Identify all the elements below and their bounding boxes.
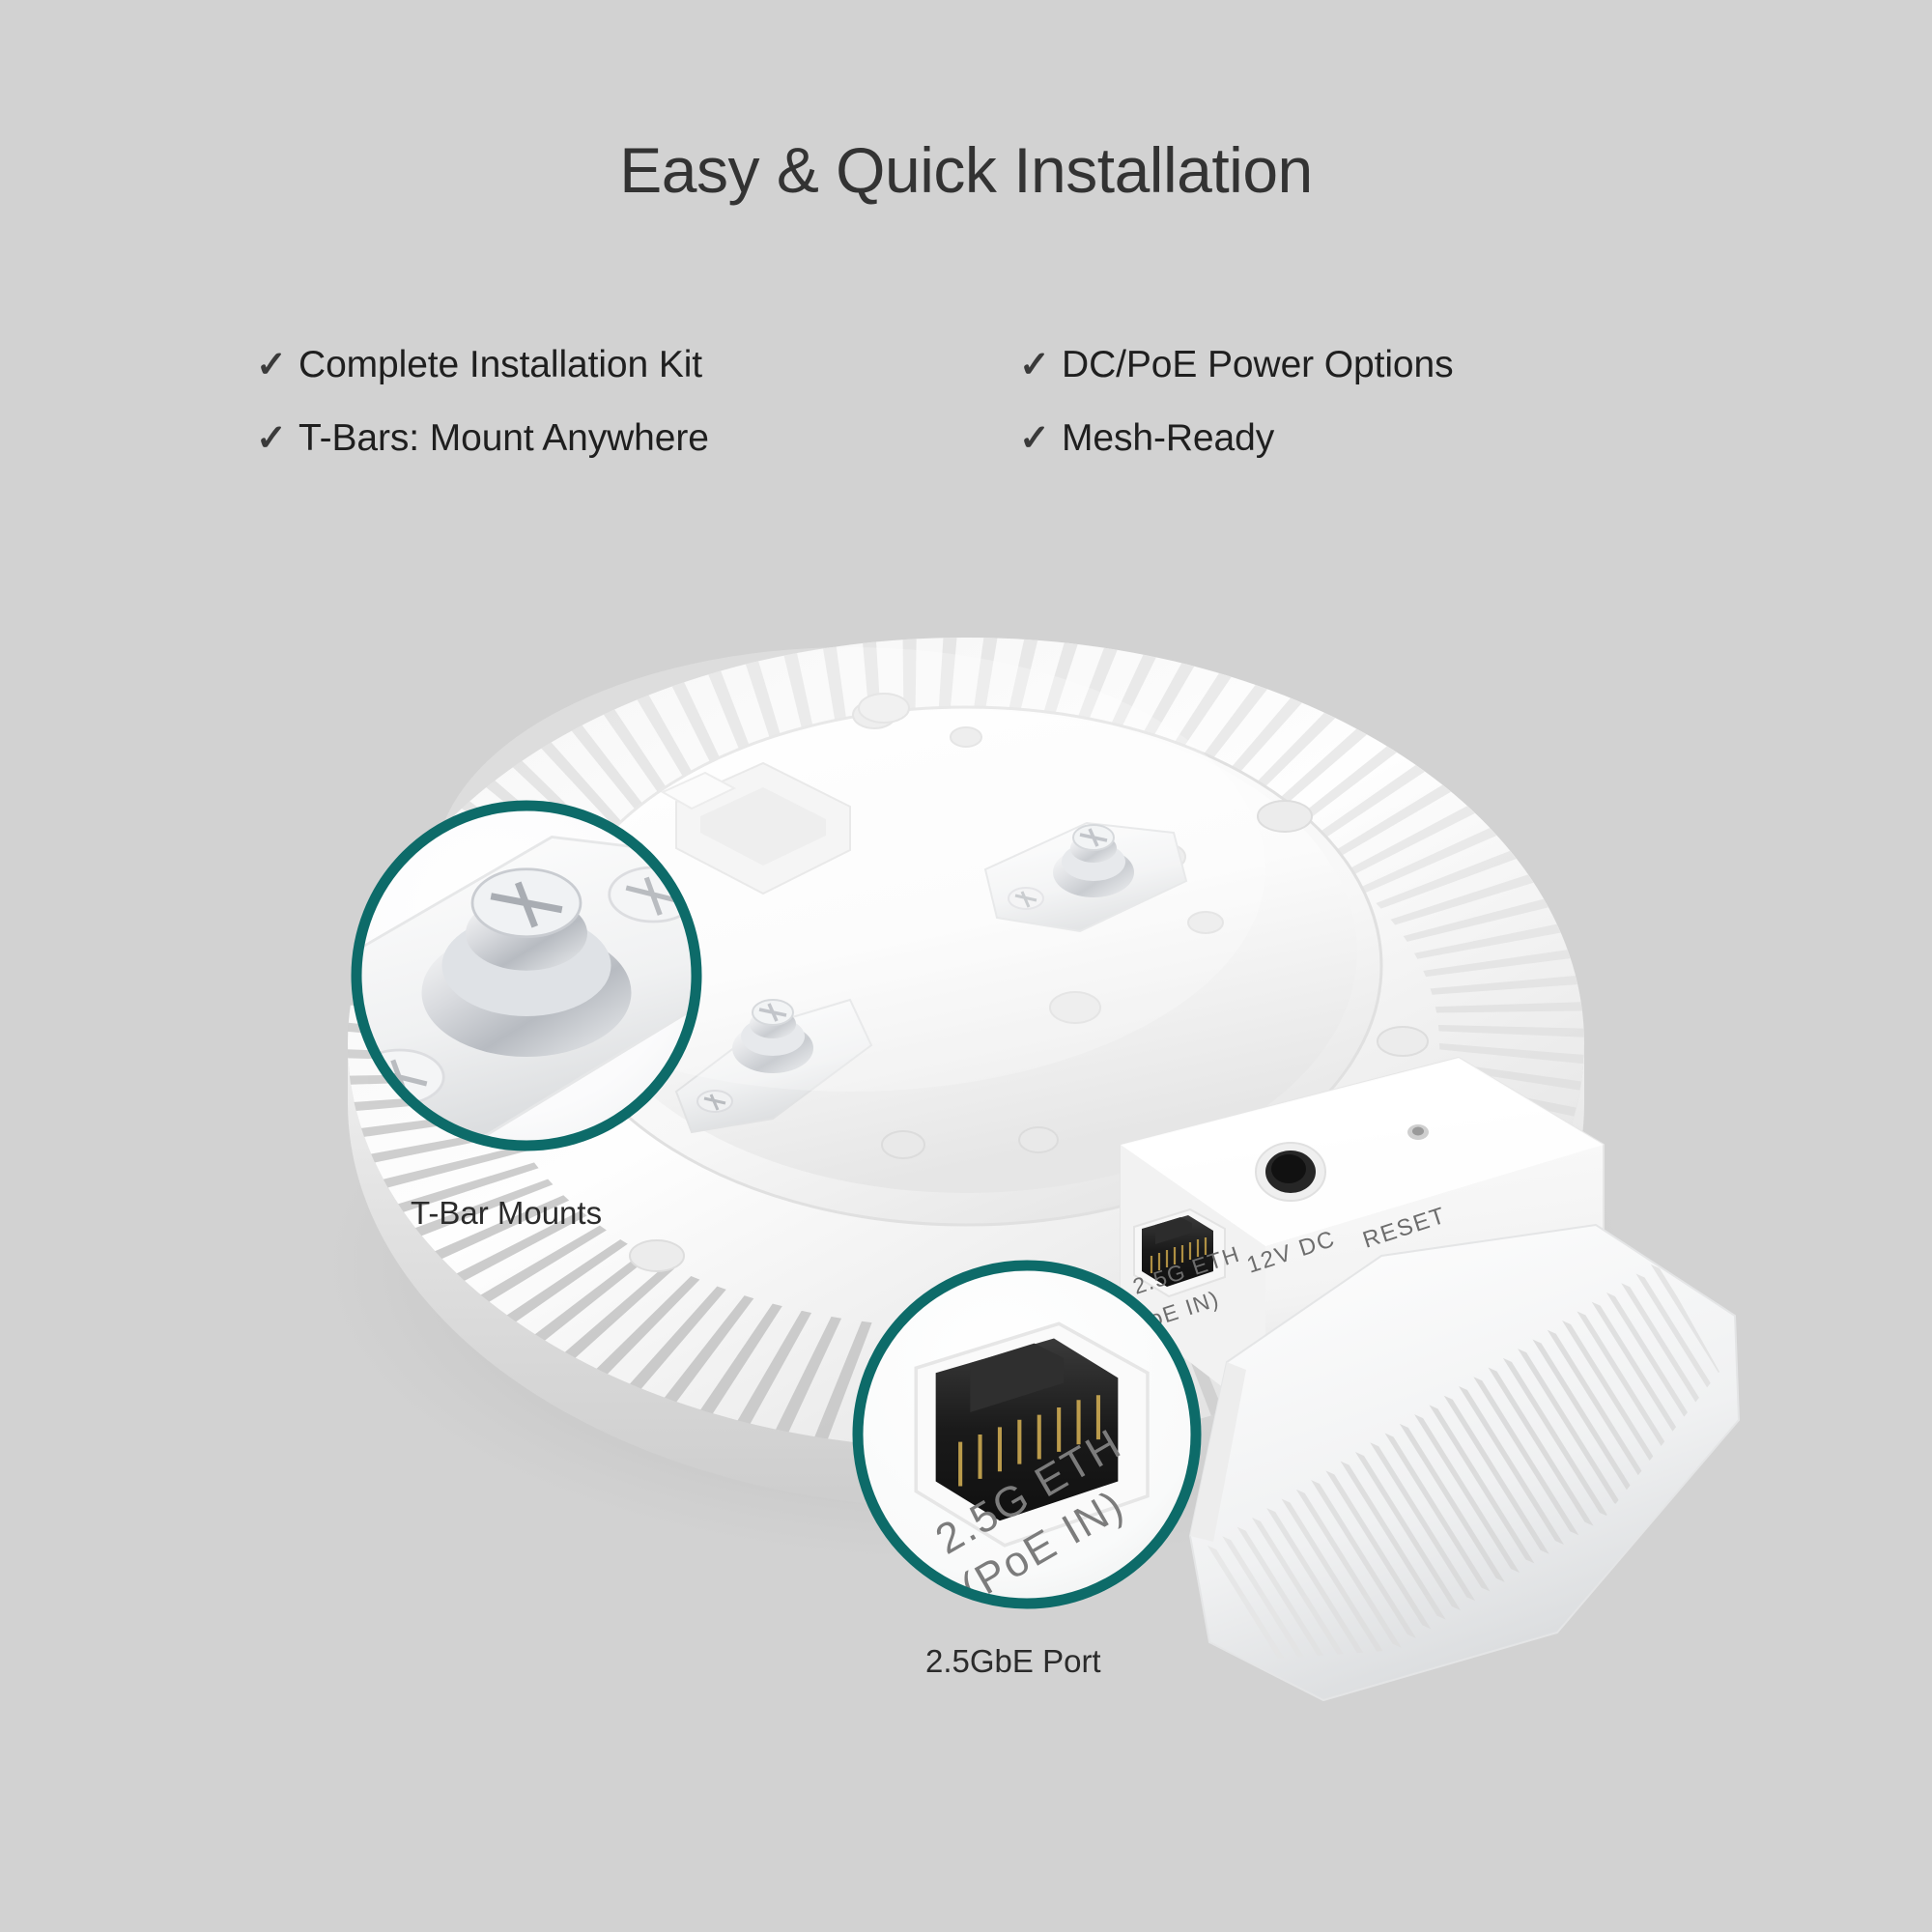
rim-holes	[630, 694, 1428, 1271]
callout-magnifier-t-bar	[268, 806, 748, 1146]
t-bar-mount-plate-bottom	[676, 1000, 871, 1132]
check-icon: ✓	[1019, 347, 1062, 384]
magnifier-port-label: 2.5G ETH (PoE IN)	[928, 1420, 1133, 1612]
magnifier-port-label-line1: 2.5G ETH	[928, 1420, 1130, 1564]
t-bar-mount-plate-top-right	[985, 823, 1186, 931]
port-label-reset-line1: RESET	[1360, 1203, 1450, 1254]
port-label-dc-line1: 12V DC	[1244, 1226, 1340, 1279]
callout-magnifier-port: 2.5G ETH (PoE IN)	[858, 1265, 1196, 1612]
magnifier-port-label-line2: (PoE IN)	[953, 1481, 1133, 1612]
port-label-reset: RESET	[1360, 1203, 1450, 1254]
feature-label: Mesh-Ready	[1062, 416, 1274, 461]
callout-label-2-5gbe-port: 2.5GbE Port	[925, 1642, 1101, 1681]
device-inner-platform	[551, 707, 1381, 1225]
feature-label: T-Bars: Mount Anywhere	[298, 416, 709, 461]
feature-item-t-bars-mount-anywhere: ✓ T-Bars: Mount Anywhere	[256, 402, 865, 475]
check-icon: ✓	[256, 347, 298, 384]
ethernet-port	[1134, 1209, 1225, 1296]
check-icon: ✓	[1019, 420, 1062, 457]
center-bracket-slot	[700, 787, 826, 866]
feature-list: ✓ Complete Installation Kit ✓ DC/PoE Pow…	[256, 328, 1686, 475]
check-icon: ✓	[256, 420, 298, 457]
mount-holes	[853, 701, 1223, 1158]
mounting-bracket-skirt	[1190, 1225, 1801, 1704]
port-label-eth: 2.5G ETH (PoE IN)	[1122, 1240, 1243, 1339]
device-disc-top	[348, 638, 1584, 1449]
feature-item-complete-installation-kit: ✓ Complete Installation Kit	[256, 328, 865, 402]
t-bar-stud	[732, 1000, 813, 1073]
screw-head	[574, 914, 624, 945]
device-inner-platform-edge	[551, 707, 1381, 1225]
callout-label-t-bar-mounts: T-Bar Mounts	[411, 1194, 602, 1233]
product-shadow	[319, 966, 1633, 1565]
dc-power-jack	[1256, 1143, 1325, 1201]
page-title: Easy & Quick Installation	[0, 133, 1932, 207]
vent-ridges	[338, 630, 1594, 1457]
device-body: 2.5G ETH (PoE IN) 12V DC RESET	[338, 630, 1801, 1704]
device-inner-platform-face	[575, 710, 1357, 1193]
magnifier-ring-port	[858, 1265, 1196, 1604]
center-bracket-tab	[663, 773, 734, 809]
port-label-eth-line1: 2.5G ETH	[1130, 1240, 1243, 1298]
center-bracket	[676, 763, 850, 894]
marketing-slide: Easy & Quick Installation ✓ Complete Ins…	[0, 0, 1932, 1932]
port-label-eth-line2: (PoE IN)	[1122, 1286, 1223, 1340]
reset-pinhole	[1407, 1124, 1429, 1140]
t-bar-mount-plate-left	[384, 896, 653, 1072]
magnifier-ring-t-bar	[356, 806, 696, 1146]
t-bar-stud	[1053, 825, 1134, 897]
feature-label: Complete Installation Kit	[298, 343, 702, 387]
feature-label: DC/PoE Power Options	[1062, 343, 1454, 387]
disc-highlight	[435, 647, 1265, 1092]
feature-item-mesh-ready: ✓ Mesh-Ready	[1019, 402, 1628, 475]
t-bar-stud	[467, 916, 586, 1022]
device-side-wall	[348, 1043, 1584, 1509]
screw-head	[1009, 888, 1043, 909]
screw-head	[429, 1018, 479, 1049]
feature-item-dc-poe-power-options: ✓ DC/PoE Power Options	[1019, 328, 1628, 402]
screw-head	[697, 1091, 732, 1112]
port-bay: 2.5G ETH (PoE IN) 12V DC RESET	[1121, 1058, 1604, 1420]
port-label-dc: 12V DC	[1244, 1226, 1340, 1279]
